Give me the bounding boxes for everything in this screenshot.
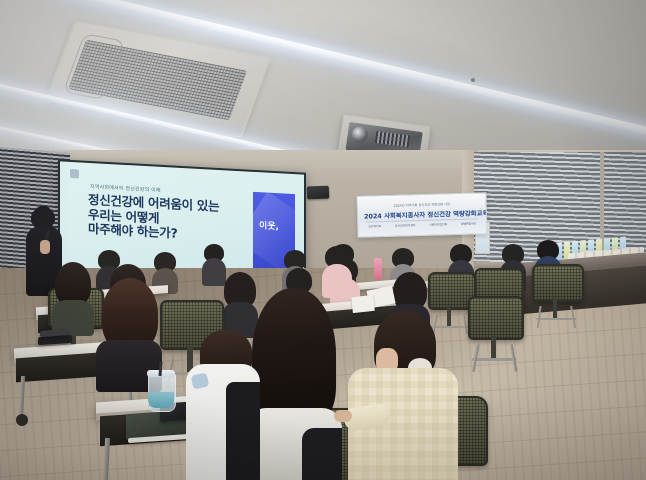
vest [226, 382, 260, 480]
hand [334, 410, 352, 422]
chair[interactable] [468, 296, 520, 370]
presenter-hands [40, 240, 50, 254]
slide-highlight-word: 이웃, [259, 218, 279, 232]
wall-speaker-icon [307, 186, 329, 200]
presenter-hair-front [31, 208, 55, 226]
attendee-foreground-center [246, 288, 342, 480]
pink-tumbler [374, 258, 382, 280]
iced-drink-cup [148, 370, 174, 410]
event-banner: 2024년 지역사회 정신건강 역량강화 사업 2024 사회복지종사자 정신건… [356, 192, 487, 238]
attendee [52, 262, 94, 332]
classroom-photo: 지역사회에서의 정신건강의 이해 정신건강에 어려움이 있는 우리는 어떻게 마… [0, 0, 646, 480]
banner-logo-1: 보건복지부 [368, 224, 381, 228]
attendee-foreground-right [348, 310, 458, 480]
banner-logo-4: 생명존중재단 [461, 221, 477, 225]
slide-title: 정신건강에 어려움이 있는 우리는 어떻게 마주해야 하는가? [88, 193, 278, 247]
slide-logo-icon [70, 169, 79, 178]
chair[interactable] [532, 264, 580, 328]
banner-logo-2: 정신건강복지센터 [395, 223, 416, 228]
cup-sleeve [148, 392, 174, 408]
attendee [322, 246, 352, 296]
attendee [596, 252, 620, 282]
banner-logo-3: 사회복지협의회 [429, 222, 447, 227]
attendee-foreground-left [186, 330, 260, 480]
caster-wheel [16, 414, 28, 426]
